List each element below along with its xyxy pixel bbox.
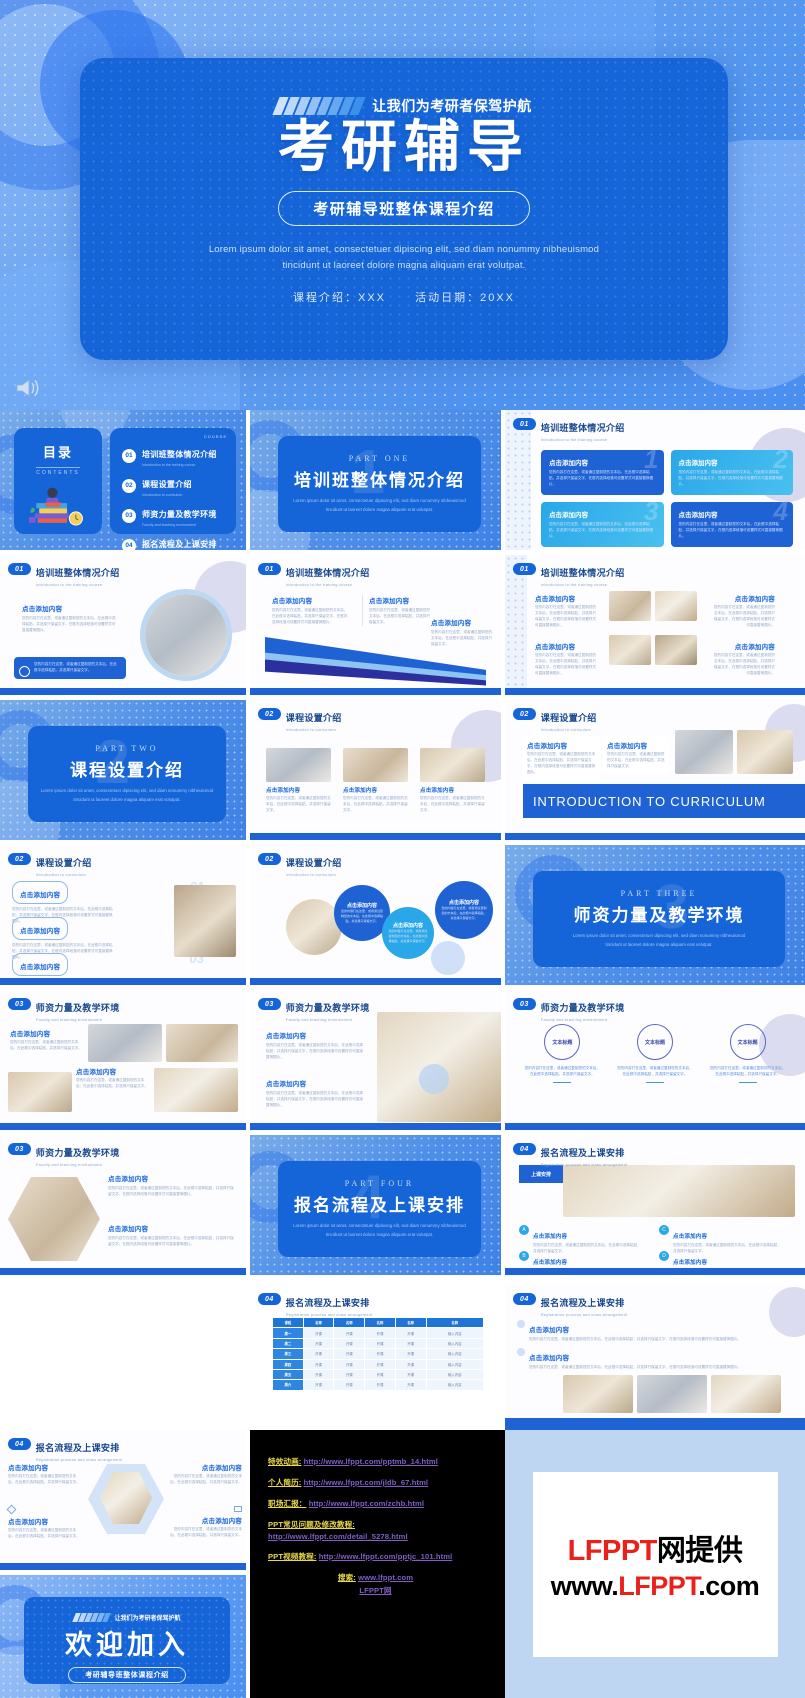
photo [563, 1375, 633, 1413]
header-title: 培训班整体情况介绍 [541, 423, 625, 433]
thumb-01-circle-photo[interactable]: 01 培训班整体情况介绍 Introduction to the trainin… [0, 555, 250, 700]
slide-header: 02 课程设置介绍 Introduction to curriculum [258, 853, 342, 877]
content-body: 您的内容打在这里，或者通过复制您的文本后，在此框中选择粘贴，并选择只保留文字，在… [711, 653, 775, 677]
header-number: 03 [8, 1143, 31, 1155]
upload-label: 上课安排 [519, 1165, 563, 1183]
slide-header: 03 师资力量及教学环境 Faculty and teaching enviro… [513, 998, 625, 1022]
content-body: 您的内容打在这里，或者通过复制您的文本后，在此框中选择粘贴，并选择只保留文字。 [168, 1527, 242, 1539]
footer-link-3[interactable]: 职场汇报： http://www.lfppt.com/zchb.html [268, 1498, 505, 1509]
table-cell: 开课 [365, 1349, 396, 1359]
content-title: 点击添加内容 [711, 593, 775, 603]
table-header-row: 课程 名称 名称 名称 名称 名称 [273, 1318, 484, 1328]
header-subtitle: Introduction to the training course [541, 437, 625, 442]
title-slide: 让我们为考研者保驾护航 考研辅导 考研辅导班整体课程介绍 Lorem ipsum… [0, 0, 805, 410]
circle-body: 您的内容打在这里，或者通过复制您的文本后，在此框中选择粘贴，并选择只保留文字。 [708, 1066, 787, 1078]
thumb-04-abcd[interactable]: 04 报名流程及上课安排 Registration process and cl… [505, 1135, 805, 1280]
header-number: 02 [8, 853, 31, 865]
toc-item-04[interactable]: 04 报名流程及上课安排 Registration process and cl… [122, 534, 226, 550]
welcome-card: 让我们为考研者保驾护航 欢迎加入 考研辅导班整体课程介绍 Lorem ipsum… [24, 1597, 230, 1684]
bullet-row-1[interactable]: 点击添加内容 您的内容打在这里，或者通过复制您的文本后，在此框中选择粘贴，并选择… [517, 1319, 793, 1343]
circle-item[interactable]: 文本标题 您的内容打在这里，或者通过复制您的文本后，在此框中选择粘贴，并选择只保… [616, 1024, 695, 1083]
footer-search[interactable]: 搜索: www.lfppt.com LFPPT网 [268, 1572, 505, 1596]
slide-header: 01 培训班整体情况介绍 Introduction to the trainin… [8, 563, 120, 587]
header-subtitle: Faculty and teaching environment [36, 1017, 120, 1022]
footer-link-url[interactable]: http://www.lfppt.com/pptjc_101.html [319, 1552, 453, 1561]
header-subtitle: Registration process and class arrangeme… [541, 1312, 628, 1317]
content-title: 点击添加内容 [8, 1462, 82, 1472]
thumb-02-circles[interactable]: 02 课程设置介绍 Introduction to curriculum 点击添… [250, 845, 505, 990]
header-number: 04 [258, 1293, 281, 1305]
photo [88, 1024, 162, 1062]
content-title: 点击添加内容 [108, 1173, 234, 1183]
thumb-column-left: 04 报名流程及上课安排 Registration process and cl… [0, 1430, 250, 1698]
content-card-4[interactable]: 4 点击添加内容 您的内容打在这里，或者通过复制您的文本后，在此框中选择粘贴，并… [671, 502, 794, 547]
circle-body: 您的内容打在这里，或者通过复制您的文本后，在此框中选择粘贴，并选择只保留文字。 [616, 1066, 695, 1078]
footer-link-url[interactable]: http://www.lfppt.com/jldb_67.html [304, 1478, 429, 1487]
thumb-04-hexagon[interactable]: 04 报名流程及上课安排 Registration process and cl… [0, 1430, 250, 1570]
part-label-cn: 报名流程及上课安排 [294, 1191, 465, 1216]
part-card: 3 PART THREE 师资力量及教学环境 Lorem ipsum dolor… [533, 871, 785, 967]
photo [655, 635, 697, 665]
header-title: 课程设置介绍 [286, 858, 342, 868]
slide-header: 02 课程设置介绍 Introduction to curriculum [8, 853, 92, 877]
photo [166, 1024, 238, 1062]
thumb-01-diagonal[interactable]: 01 培训班整体情况介绍 Introduction to the trainin… [250, 555, 505, 700]
schedule-table: 课程 名称 名称 名称 名称 名称 周一 开课 开课 开课 开课 输入内容 [272, 1317, 484, 1391]
slide-header: 03 师资力量及教学环境 Faculty and teaching enviro… [258, 998, 370, 1022]
header-subtitle: Introduction to curriculum [286, 727, 342, 732]
table-cell: 开课 [395, 1338, 426, 1348]
header-title: 报名流程及上课安排 [541, 1298, 625, 1308]
footer-link-label: PPT视频教程: [268, 1552, 316, 1561]
table-cell: 周四 [273, 1359, 304, 1369]
photo [8, 1072, 72, 1112]
slide-header: 03 师资力量及教学环境 Faculty and teaching enviro… [8, 998, 120, 1022]
slide-header: 03 师资力量及教学环境 Faculty and teaching enviro… [8, 1143, 120, 1167]
hero-meta-course: 课程介绍：XXX [293, 292, 386, 304]
hero-lorem: Lorem ipsum dolor sit amet, consectetuer… [124, 242, 684, 275]
footer-row: 04 报名流程及上课安排 Registration process and cl… [0, 1430, 805, 1698]
header-number: 02 [258, 853, 281, 865]
card-body: 您的内容打在这里，或者通过复制您的文本后，在此框中选择粘贴，并选择只保留文字，在… [679, 470, 786, 488]
header-subtitle: Registration process and class arrangeme… [286, 1312, 373, 1317]
circle-body: 您的内容打在这里，或者通过复制您的文本后，在此框中选择粘贴，并选择只保留文字。 [441, 906, 487, 921]
table-header-cell: 课程 [273, 1318, 304, 1328]
table-cell: 周六 [273, 1380, 304, 1390]
slide-header: 01 培训班整体情况介绍 Introduction to the trainin… [513, 418, 625, 442]
content-title: 点击添加内容 [431, 617, 493, 627]
card-title: 点击添加内容 [549, 509, 656, 519]
slash-stripes-icon [74, 1613, 110, 1622]
thumb-02-curriculum-banner[interactable]: 02 课程设置介绍 Introduction to curriculum 点击添… [505, 700, 805, 845]
table-cell: 输入内容 [426, 1359, 483, 1369]
photo [711, 1375, 781, 1413]
header-title: 课程设置介绍 [286, 713, 342, 723]
table-cell: 开课 [365, 1338, 396, 1348]
thumb-04-table[interactable]: 04 报名流程及上课安排 Registration process and cl… [250, 1285, 505, 1425]
photo [154, 1068, 238, 1112]
kicker-row: 让我们为考研者保驾护航 [276, 96, 532, 116]
thumb-part-one[interactable]: 1 PART ONE 培训班整体情况介绍 Lorem ipsum dolor s… [250, 410, 505, 555]
footer-link-5[interactable]: PPT视频教程: http://www.lfppt.com/pptjc_101.… [268, 1551, 505, 1562]
photo-item[interactable]: 点击添加内容 您的内容打在这里，或者通过复制您的文本后，在此框中选择粘贴，并选择… [420, 748, 485, 814]
diamond-icon [7, 1505, 17, 1515]
photo [563, 1165, 795, 1217]
content-title: 点击添加内容 [10, 1028, 82, 1038]
footer-links-panel: 04 报名流程及上课安排 Registration process and cl… [250, 1430, 505, 1698]
thumb-part-three[interactable]: 3 PART THREE 师资力量及教学环境 Lorem ipsum dolor… [505, 845, 805, 990]
bullet-row-2[interactable]: 点击添加内容 您的内容打在这里，或者通过复制您的文本后，在此框中选择粘贴，并选择… [517, 1347, 793, 1371]
student-illustration [26, 480, 92, 532]
thumb-welcome[interactable]: 让我们为考研者保驾护航 欢迎加入 考研辅导班整体课程介绍 Lorem ipsum… [0, 1575, 250, 1698]
toc-heading-en: CONTENTS [36, 467, 80, 476]
title-card: 让我们为考研者保驾护航 考研辅导 考研辅导班整体课程介绍 Lorem ipsum… [80, 58, 728, 360]
footer-link-label: 职场汇报： [268, 1499, 306, 1508]
brand-lfppt-red: LFPPT [568, 1535, 657, 1567]
hero-subtitle: 考研辅导班整体课程介绍 [278, 191, 530, 226]
hero-kicker: 让我们为考研者保驾护航 [372, 96, 532, 116]
footer-link-1[interactable]: 特效动画: http://www.lfppt.com/pptmb_14.html [268, 1456, 505, 1467]
thumb-03-book-photo[interactable]: 03 师资力量及教学环境 Faculty and teaching enviro… [250, 990, 505, 1135]
step-title: 点击添加内容 [533, 1234, 567, 1240]
circle-body: 您的内容打在这里，或者通过复制您的文本后，在此框中选择粘贴，并选择只保留文字。 [388, 929, 428, 944]
photo-item[interactable]: 点击添加内容 您的内容打在这里，或者通过复制您的文本后，在此框中选择粘贴，并选择… [266, 748, 331, 814]
photo [737, 730, 793, 774]
table-cell: 开课 [395, 1349, 426, 1359]
header-number: 03 [8, 998, 31, 1010]
part-label-cn: 师资力量及教学环境 [574, 901, 745, 926]
table-cell: 开课 [303, 1369, 334, 1379]
toc-corner-label: COURSE [204, 434, 227, 439]
brand-line-1: LFPPT网提供 [568, 1527, 743, 1569]
toc-item-label: 培训班整体情况介绍 [142, 450, 217, 459]
content-title: 点击添加内容 [108, 1223, 234, 1233]
table-row: 周三 开课 开课 开课 开课 输入内容 [273, 1349, 484, 1359]
header-title: 课程设置介绍 [541, 713, 597, 723]
diagonal-graphic [250, 637, 501, 689]
toc-item-number: 03 [122, 509, 136, 523]
note-body: 您的内容打在这里，或者通过复制您的文本后，在此框中选择粘贴，并选择只保留文字。 [34, 662, 120, 674]
hero-title: 考研辅导 [278, 118, 530, 177]
header-subtitle: Faculty and teaching environment [36, 1162, 120, 1167]
header-subtitle: Introduction to curriculum [36, 872, 92, 877]
part-label-en: PART FOUR [345, 1179, 414, 1188]
header-number: 04 [513, 1293, 536, 1305]
card-body: 您的内容打在这里，或者通过复制您的文本后，在此框中选择粘贴，并选择只保留文字，在… [549, 522, 656, 540]
table-header-cell: 名称 [365, 1318, 396, 1328]
slide-header: 02 课程设置介绍 Introduction to curriculum [513, 708, 597, 732]
slide-header: 04 报名流程及上课安排 Registration process and cl… [513, 1293, 627, 1317]
part-label-en: PART THREE [621, 889, 698, 898]
card-ghost-number: 2 [774, 450, 788, 472]
toc-item-sub: Introduction to curriculum [142, 493, 192, 497]
table-cell: 开课 [365, 1359, 396, 1369]
card-ghost-number: 4 [774, 502, 788, 524]
toc-heading-cn: 目录 [14, 442, 102, 461]
table-cell: 输入内容 [426, 1380, 483, 1390]
brand-line-2: www.LFPPT.com [551, 1571, 760, 1602]
thumb-part-four[interactable]: 4 PART FOUR 报名流程及上课安排 Lorem ipsum dolor … [250, 1135, 505, 1280]
card-title: 点击添加内容 [549, 457, 656, 467]
header-subtitle: Introduction to the training course [286, 582, 370, 587]
table-cell: 开课 [303, 1349, 334, 1359]
photo [609, 591, 651, 621]
header-title: 师资力量及教学环境 [286, 1003, 370, 1013]
circle-item[interactable]: 文本标题 您的内容打在这里，或者通过复制您的文本后，在此框中选择粘贴，并选择只保… [523, 1024, 602, 1083]
slide-thumbnail-grid: 目录 CONTENTS COURSE [0, 410, 805, 1280]
brand-provided-by: 网提供 [657, 1535, 743, 1567]
thumb-04-photos[interactable]: 04 报名流程及上课安排 Registration process and cl… [505, 1285, 805, 1425]
content-title: 点击添加内容 [168, 1462, 242, 1472]
highlight-note[interactable]: 您的内容打在这里，或者通过复制您的文本后，在此框中选择粘贴，并选择只保留文字。 [14, 657, 126, 679]
hexagon-photo [8, 1177, 100, 1261]
footer-search-url[interactable]: www.lfppt.com [358, 1573, 413, 1582]
toc-item-number: 04 [122, 539, 136, 551]
table-row: 周六 开课 开课 开课 开课 输入内容 [273, 1380, 484, 1390]
header-number: 02 [258, 708, 281, 720]
photo-title: 点击添加内容 [266, 786, 331, 794]
photo-title: 点击添加内容 [420, 786, 485, 794]
table-cell: 开课 [365, 1380, 396, 1390]
content-body: 您的内容打在这里，或者通过复制您的文本后，在此框中选择粘贴，并选择只保留文字，在… [22, 616, 116, 634]
hero-lorem-line2: tincidunt ut laoreet dolore magna aliqua… [124, 258, 684, 275]
header-number: 04 [8, 1438, 31, 1450]
thumb-01-photo-grid[interactable]: 01 培训班整体情况介绍 Introduction to the trainin… [505, 555, 805, 700]
table-cell: 开课 [334, 1359, 365, 1369]
step-title: 点击添加内容 [673, 1260, 707, 1266]
content-title: 点击添加内容 [527, 740, 597, 750]
photo [609, 635, 651, 665]
toc-item-02[interactable]: 02 课程设置介绍 Introduction to curriculum [122, 474, 226, 497]
header-subtitle: Registration process and class arrangeme… [36, 1457, 123, 1462]
thumb-03-circle-labels[interactable]: 03 师资力量及教学环境 Faculty and teaching enviro… [505, 990, 805, 1135]
content-title: 点击添加内容 [272, 595, 350, 605]
content-title: 点击添加内容 [535, 593, 599, 603]
table-cell: 周五 [273, 1369, 304, 1379]
content-title: 点击添加内容 [711, 641, 775, 651]
card-body: 您的内容打在这里，或者通过复制您的文本后，在此框中选择粘贴，并选择只保留文字，在… [679, 522, 786, 540]
content-title: 点击添加内容 [168, 1515, 242, 1525]
header-subtitle: Faculty and teaching environment [541, 1017, 625, 1022]
bullet-icon [517, 1320, 525, 1328]
header-title: 报名流程及上课安排 [36, 1443, 120, 1453]
header-subtitle: Introduction to the training course [541, 582, 625, 587]
part-card: 4 PART FOUR 报名流程及上课安排 Lorem ipsum dolor … [278, 1161, 481, 1257]
header-subtitle: Faculty and teaching environment [286, 1017, 370, 1022]
header-number: 02 [513, 708, 536, 720]
table-cell: 周二 [273, 1338, 304, 1348]
footer-link-url[interactable]: http://www.lfppt.com/detail_5278.html [268, 1532, 408, 1541]
footer-link-url[interactable]: http://www.lfppt.com/zchb.html [309, 1499, 424, 1508]
content-card-2[interactable]: 2 点击添加内容 您的内容打在这里，或者通过复制您的文本后，在此框中选择粘贴，并… [671, 450, 794, 495]
header-subtitle: Registration process and class arrangeme… [541, 1162, 628, 1167]
photo [655, 591, 697, 621]
part-card: 1 PART ONE 培训班整体情况介绍 Lorem ipsum dolor s… [278, 436, 481, 532]
content-title: 点击添加内容 [76, 1066, 150, 1076]
table-cell: 开课 [395, 1359, 426, 1369]
content-card-1[interactable]: 1 点击添加内容 您的内容打在这里，或者通过复制您的文本后，在此框中选择粘贴，并… [541, 450, 664, 495]
content-body: 您的内容打在这里，或者通过复制您的文本后，在此框中选择粘贴，并选择只保留文字，在… [711, 605, 775, 629]
thumb-part-two[interactable]: 2 PART TWO 课程设置介绍 Lorem ipsum dolor sit … [0, 700, 250, 845]
list-title: 点击添加内容 [20, 964, 60, 971]
circle-label: 文本标题 [645, 1039, 665, 1046]
header-title: 培训班整体情况介绍 [541, 568, 625, 578]
part-label-en: PART ONE [349, 454, 411, 463]
header-number: 01 [513, 418, 536, 430]
content-body: 您的内容打在这里，或者通过复制您的文本后，在此框中选择粘贴，并选择只保留文字，在… [535, 653, 599, 677]
thumb-02-list-photo[interactable]: 02 课程设置介绍 Introduction to curriculum 点击添… [0, 845, 250, 990]
table-cell: 开课 [334, 1338, 365, 1348]
part-lorem: Lorem ipsum dolor sit amet, consectetuer… [37, 787, 217, 804]
table-cell: 开课 [303, 1328, 334, 1338]
slide-header: 04 报名流程及上课安排 Registration process and cl… [258, 1293, 372, 1317]
footer-link-4[interactable]: PPT常见问题及修改教程: http://www.lfppt.com/detai… [268, 1519, 505, 1541]
list-title: 点击添加内容 [20, 892, 60, 899]
curriculum-banner: INTRODUCTION TO CURRICULUM [523, 784, 805, 818]
step-badge: B [519, 1251, 529, 1261]
slide-header: 02 课程设置介绍 Introduction to curriculum [258, 708, 342, 732]
toc-item-number: 02 [122, 479, 136, 493]
table-cell: 开课 [303, 1380, 334, 1390]
photo [675, 730, 733, 774]
table-row: 周四 开课 开课 开课 开课 输入内容 [273, 1359, 484, 1369]
table-cell: 输入内容 [426, 1338, 483, 1348]
header-number: 04 [513, 1143, 536, 1155]
banner-text: INTRODUCTION TO CURRICULUM [533, 794, 766, 809]
content-body: 您的内容打在这里，或者通过复制您的文本后，在此框中选择粘贴，并选择只保留文字，在… [535, 605, 599, 629]
content-card-3[interactable]: 3 点击添加内容 您的内容打在这里，或者通过复制您的文本后，在此框中选择粘贴，并… [541, 502, 664, 547]
table-cell: 周一 [273, 1328, 304, 1338]
header-title: 报名流程及上课安排 [541, 1148, 625, 1158]
slash-stripes-icon [276, 97, 362, 115]
content-body: 您的内容打在这里，或者通过复制您的文本后，在此框中选择粘贴，并选择只保留文字。 [607, 752, 665, 770]
slide-header: 04 报名流程及上课安排 Registration process and cl… [513, 1143, 627, 1167]
content-title: 点击添加内容 [266, 1078, 366, 1088]
part-card: 2 PART TWO 课程设置介绍 Lorem ipsum dolor sit … [28, 726, 226, 822]
table-cell: 开课 [303, 1359, 334, 1369]
photo-item[interactable]: 点击添加内容 您的内容打在这里，或者通过复制您的文本后，在此框中选择粘贴，并选择… [343, 748, 408, 814]
content-body: 您的内容打在这里，或者通过复制您的文本后，在此框中选择粘贴，并选择只保留文字，在… [272, 608, 350, 626]
circle-photo [140, 589, 232, 681]
part-label-cn: 课程设置介绍 [70, 756, 184, 781]
circle-card-2[interactable]: 点击添加内容 您的内容打在这里，或者通过复制您的文本后，在此框中选择粘贴，并选择… [382, 907, 434, 959]
table-cell: 开课 [365, 1369, 396, 1379]
circle-label: 文本标题 [738, 1039, 758, 1046]
toc-right-card: COURSE 01 培训班整体情况介绍 Introduction to the … [110, 428, 236, 534]
step-title: 点击添加内容 [673, 1234, 707, 1240]
table-cell: 输入内容 [426, 1369, 483, 1379]
step-badge: D [659, 1251, 669, 1261]
header-title: 师资力量及教学环境 [541, 1003, 625, 1013]
table-cell: 周三 [273, 1349, 304, 1359]
toc-item-number: 01 [122, 449, 136, 463]
footer-search-brand[interactable]: LFPPT网 [268, 1585, 483, 1596]
lfppt-brand-box: LFPPT网提供 www.LFPPT.com [533, 1472, 778, 1657]
toc-item-01[interactable]: 01 培训班整体情况介绍 Introduction to the trainin… [122, 444, 226, 467]
part-lorem: Lorem ipsum dolor sit amet, consectetuer… [290, 497, 470, 514]
content-body: 您的内容打在这里，或者通过复制您的文本后，在此框中选择粘贴，并选择只保留文字。 [369, 608, 432, 626]
step-badge: A [519, 1225, 529, 1235]
table-cell: 开课 [334, 1380, 365, 1390]
footer-link-url[interactable]: http://www.lfppt.com/pptmb_14.html [304, 1457, 438, 1466]
header-number: 01 [8, 563, 31, 575]
content-body: 您的内容打在这里，或者通过复制您的文本后，在此框中选择粘贴，并选择只保留文字。 [10, 1040, 82, 1052]
header-title: 课程设置介绍 [36, 858, 92, 868]
header-title: 师资力量及教学环境 [36, 1148, 120, 1158]
thumb-02-three-photos[interactable]: 02 课程设置介绍 Introduction to curriculum 点击添… [250, 700, 505, 845]
footer-search-label: 搜索: [338, 1573, 356, 1582]
header-title: 报名流程及上课安排 [286, 1298, 370, 1308]
toc-item-label: 课程设置介绍 [142, 480, 192, 489]
header-subtitle: Introduction to curriculum [286, 872, 342, 877]
header-subtitle: Introduction to curriculum [541, 727, 597, 732]
part-lorem: Lorem ipsum dolor sit amet, consectetuer… [569, 932, 749, 949]
table-cell: 开课 [395, 1369, 426, 1379]
photo [637, 1375, 707, 1413]
footer-link-2[interactable]: 个人简历: http://www.lfppt.com/jldb_67.html [268, 1477, 505, 1488]
table-cell: 输入内容 [426, 1349, 483, 1359]
table-cell: 开课 [334, 1349, 365, 1359]
table-cell: 开课 [395, 1328, 426, 1338]
header-title: 培训班整体情况介绍 [36, 568, 120, 578]
bullet-body: 您的内容打在这里，或者通过复制您的文本后，在此框中选择粘贴，并选择只保留文字，在… [529, 1337, 741, 1343]
circle-body: 您的内容打在这里，或者通过复制您的文本后，在此框中选择粘贴，并选择只保留文字。 [340, 909, 384, 924]
upload-label-text: 上课安排 [531, 1171, 551, 1178]
mail-icon [234, 1506, 242, 1512]
bullet-icon [517, 1348, 525, 1356]
thumb-03-hexagon[interactable]: 03 师资力量及教学环境 Faculty and teaching enviro… [0, 1135, 250, 1280]
slide-header: 01 培训班整体情况介绍 Introduction to the trainin… [258, 563, 370, 587]
card-title: 点击添加内容 [679, 457, 786, 467]
toc-item-label: 报名流程及上课安排 [142, 540, 217, 549]
content-title: 点击添加内容 [607, 740, 665, 750]
footer-link-label: 个人简历: [268, 1478, 301, 1487]
toc-left-card: 目录 CONTENTS [14, 428, 102, 534]
thumb-toc[interactable]: 目录 CONTENTS COURSE [0, 410, 250, 555]
table-header-cell: 名称 [303, 1318, 334, 1328]
table-row: 周一 开课 开课 开课 开课 输入内容 [273, 1328, 484, 1338]
bullet-body: 您的内容打在这里，或者通过复制您的文本后，在此框中选择粘贴，并选择只保留文字，在… [529, 1365, 741, 1371]
header-number: 03 [258, 998, 281, 1010]
circle-card-3[interactable]: 点击添加内容 您的内容打在这里，或者通过复制您的文本后，在此框中选择粘贴，并选择… [435, 881, 493, 939]
content-title: 点击添加内容 [535, 641, 599, 651]
circle-item[interactable]: 文本标题 您的内容打在这里，或者通过复制您的文本后，在此框中选择粘贴，并选择只保… [708, 1024, 787, 1083]
plus-icon [19, 666, 30, 677]
bullet-title: 点击添加内容 [529, 1327, 569, 1334]
table-row: 周二 开课 开课 开课 开课 输入内容 [273, 1338, 484, 1348]
bullet-title: 点击添加内容 [529, 1355, 569, 1362]
part-label-en: PART TWO [95, 744, 158, 753]
toc-item-03[interactable]: 03 师资力量及教学环境 Faculty and teaching enviro… [122, 504, 226, 527]
content-body: 您的内容打在这里，或者通过复制您的文本后，在此框中选择粘贴，并选择只保留文字。 [76, 1078, 150, 1090]
list-title: 点击添加内容 [20, 928, 60, 935]
thumb-03-collage[interactable]: 03 师资力量及教学环境 Faculty and teaching enviro… [0, 990, 250, 1135]
card-title: 点击添加内容 [679, 509, 786, 519]
circle-label: 文本标题 [552, 1039, 572, 1046]
content-title: 点击添加内容 [22, 603, 116, 613]
thumb-01-four-cards[interactable]: 01 培训班整体情况介绍 Introduction to the trainin… [505, 410, 805, 555]
table-header-cell: 名称 [426, 1318, 483, 1328]
card-ghost-number: 1 [644, 450, 658, 472]
step-badge: C [659, 1225, 669, 1235]
toc-item-sub: Faculty and teaching environment [142, 523, 217, 527]
content-title: 点击添加内容 [266, 1030, 366, 1040]
content-body: 您的内容打在这里，或者通过复制您的文本后，在此框中选择粘贴，并选择只保留文字，在… [108, 1186, 234, 1198]
speaker-icon[interactable] [14, 376, 44, 400]
photo [174, 885, 236, 957]
step-title: 点击添加内容 [533, 1260, 567, 1266]
slide-header: 01 培训班整体情况介绍 Introduction to the trainin… [513, 563, 625, 587]
